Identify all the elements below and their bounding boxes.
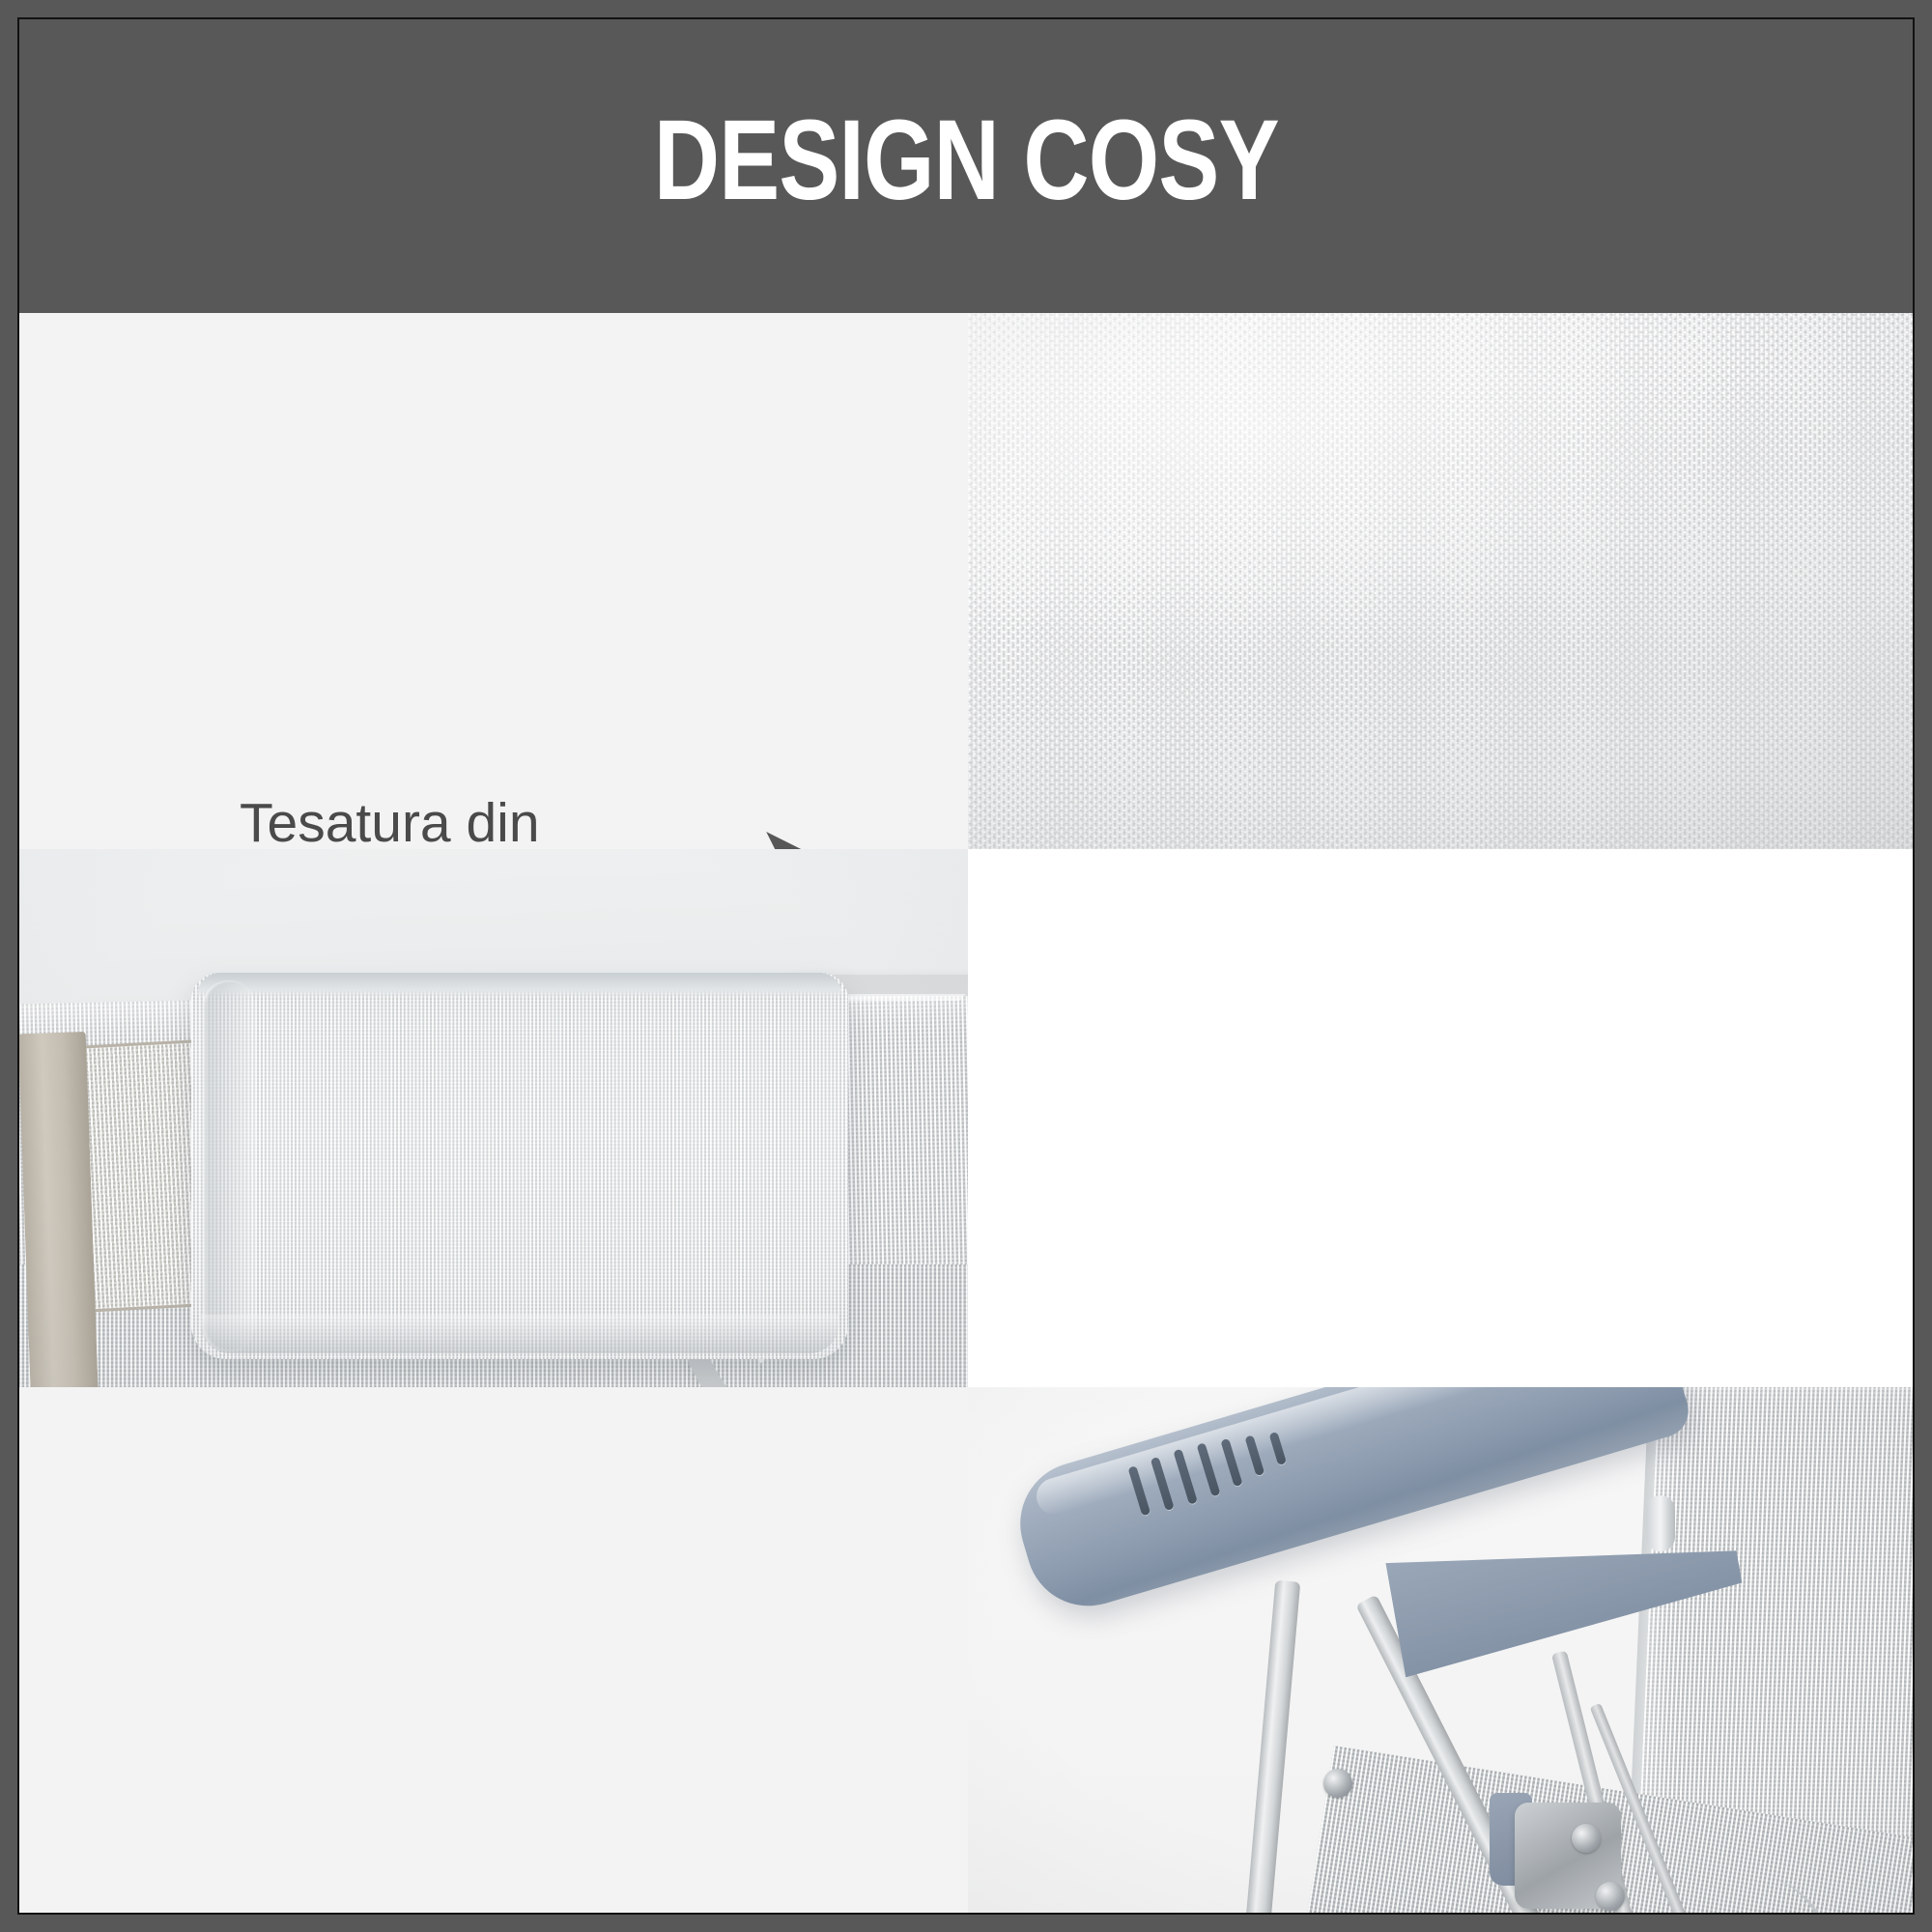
feature-panel-padded-headrest: Tetieră căptușită bbox=[968, 849, 1913, 1387]
feature-label-breathable-mesh-fabric: Tesatura din plasa respirabila bbox=[240, 788, 742, 849]
headrest-cushion-left-seam bbox=[203, 980, 255, 1351]
photo-padded-headrest-closeup bbox=[19, 849, 968, 1387]
armrest-photo-scene bbox=[968, 1387, 1913, 1913]
arrow-right-icon bbox=[755, 825, 823, 849]
product-feature-poster: DESIGN COSY Tesatura din plasa respirabi… bbox=[0, 0, 1932, 1932]
headrest-cushion bbox=[191, 973, 848, 1359]
vent-slot bbox=[1220, 1438, 1242, 1487]
headrest-photo-scene bbox=[19, 849, 968, 1387]
headrest-cushion-bottom-seam bbox=[201, 1315, 838, 1353]
headrest-cushion-mesh bbox=[191, 973, 848, 1359]
photo-fixed-armrest-closeup bbox=[968, 1387, 1913, 1913]
poster-frame: DESIGN COSY Tesatura din plasa respirabi… bbox=[17, 17, 1915, 1915]
poster-header: DESIGN COSY bbox=[19, 19, 1913, 313]
armrest-rivet bbox=[1323, 1769, 1352, 1798]
armrest-pivot-pin bbox=[1646, 1495, 1675, 1551]
photo-breathable-mesh-fabric-closeup bbox=[968, 313, 1913, 849]
caption-breathable-mesh-fabric: Tesatura din plasa respirabila bbox=[240, 767, 916, 849]
hinge-bolt bbox=[1596, 1882, 1625, 1911]
feature-panel-fixed-armrests: Brațe fixe bbox=[19, 1387, 968, 1913]
feature-panel-breathable-mesh-fabric: Tesatura din plasa respirabila bbox=[19, 313, 968, 849]
mesh-weave-sheen bbox=[968, 313, 1913, 849]
page-title: DESIGN COSY bbox=[654, 103, 1279, 217]
poster-canvas: DESIGN COSY Tesatura din plasa respirabi… bbox=[19, 19, 1913, 1913]
vent-slot bbox=[1197, 1442, 1221, 1496]
vent-slot bbox=[1151, 1457, 1175, 1511]
headrest-cushion-top-edge bbox=[197, 973, 842, 998]
vent-slot bbox=[1173, 1449, 1198, 1505]
vent-slot bbox=[1269, 1432, 1288, 1465]
vent-slot bbox=[1244, 1435, 1264, 1476]
hinge-bolt bbox=[1572, 1824, 1601, 1853]
